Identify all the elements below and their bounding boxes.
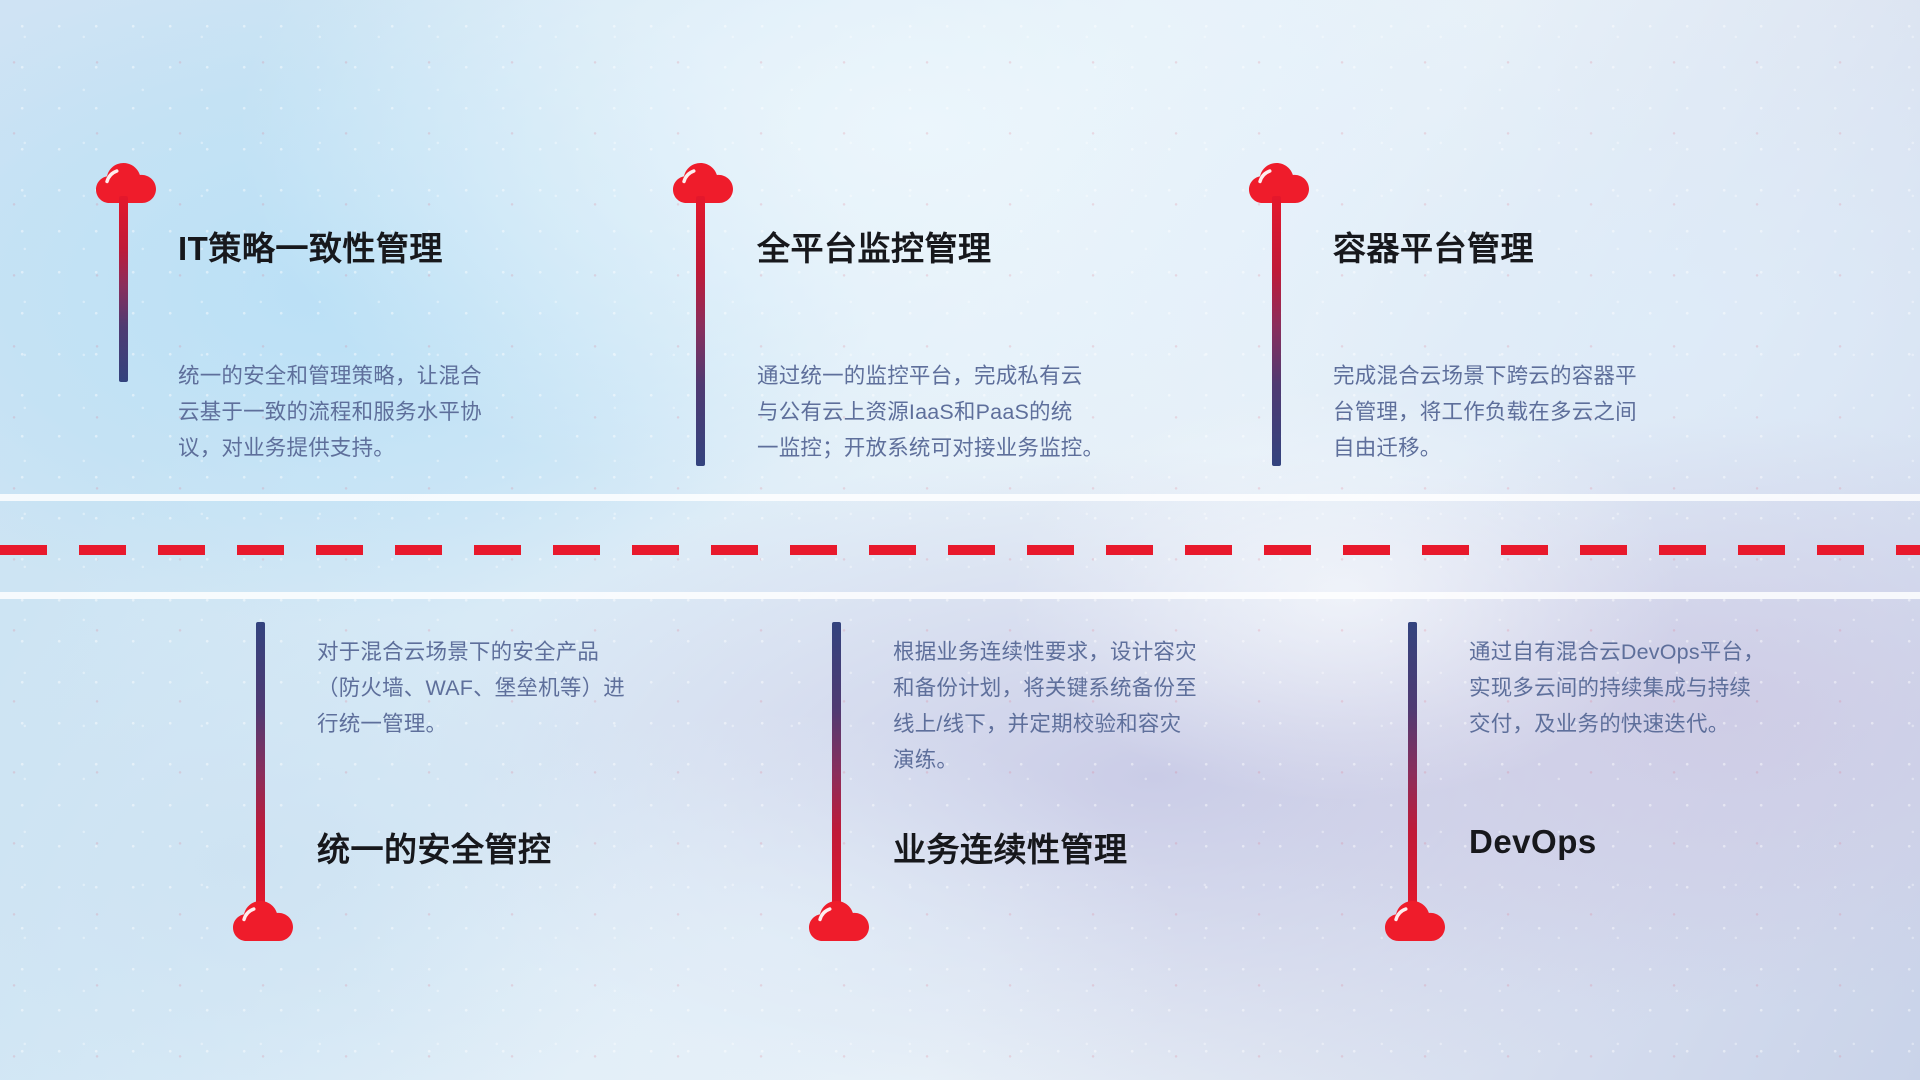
card-body: 通过统一的监控平台，完成私有云 与公有云上资源IaaS和PaaS的统 一监控；开… [757, 358, 1197, 466]
card-body: 通过自有混合云DevOps平台， 实现多云间的持续集成与持续 交付，及业务的快速… [1469, 634, 1889, 742]
connector-stem [696, 196, 705, 466]
connector-stem [832, 622, 841, 912]
connector-stem [1408, 622, 1417, 912]
connector-stem [256, 622, 265, 912]
divider-rule-bottom [0, 592, 1920, 599]
card-body: 根据业务连续性要求，设计容灾 和备份计划，将关键系统备份至 线上/线下，并定期校… [893, 634, 1333, 778]
card-heading: IT策略一致性管理 [178, 222, 443, 270]
infographic-canvas: IT策略一致性管理 统一的安全和管理策略，让混合 云基于一致的流程和服务水平协 … [0, 0, 1920, 1080]
card-heading: 全平台监控管理 [757, 222, 992, 270]
connector-stem [119, 196, 128, 382]
card-heading: DevOps [1469, 823, 1597, 861]
card-body: 统一的安全和管理策略，让混合 云基于一致的流程和服务水平协 议，对业务提供支持。 [178, 358, 608, 466]
connector-stem [1272, 196, 1281, 466]
divider-dashes [0, 545, 1920, 555]
card-body: 完成混合云场景下跨云的容器平 台管理，将工作负载在多云之间 自由迁移。 [1333, 358, 1763, 466]
card-body: 对于混合云场景下的安全产品 （防火墙、WAF、堡垒机等）进 行统一管理。 [317, 634, 747, 742]
card-heading: 容器平台管理 [1333, 222, 1534, 270]
cloud-icon [1384, 898, 1446, 944]
card-heading: 统一的安全管控 [317, 823, 552, 871]
card-heading: 业务连续性管理 [893, 823, 1128, 871]
divider-rule-top [0, 494, 1920, 501]
cloud-icon [232, 898, 294, 944]
cloud-icon [808, 898, 870, 944]
